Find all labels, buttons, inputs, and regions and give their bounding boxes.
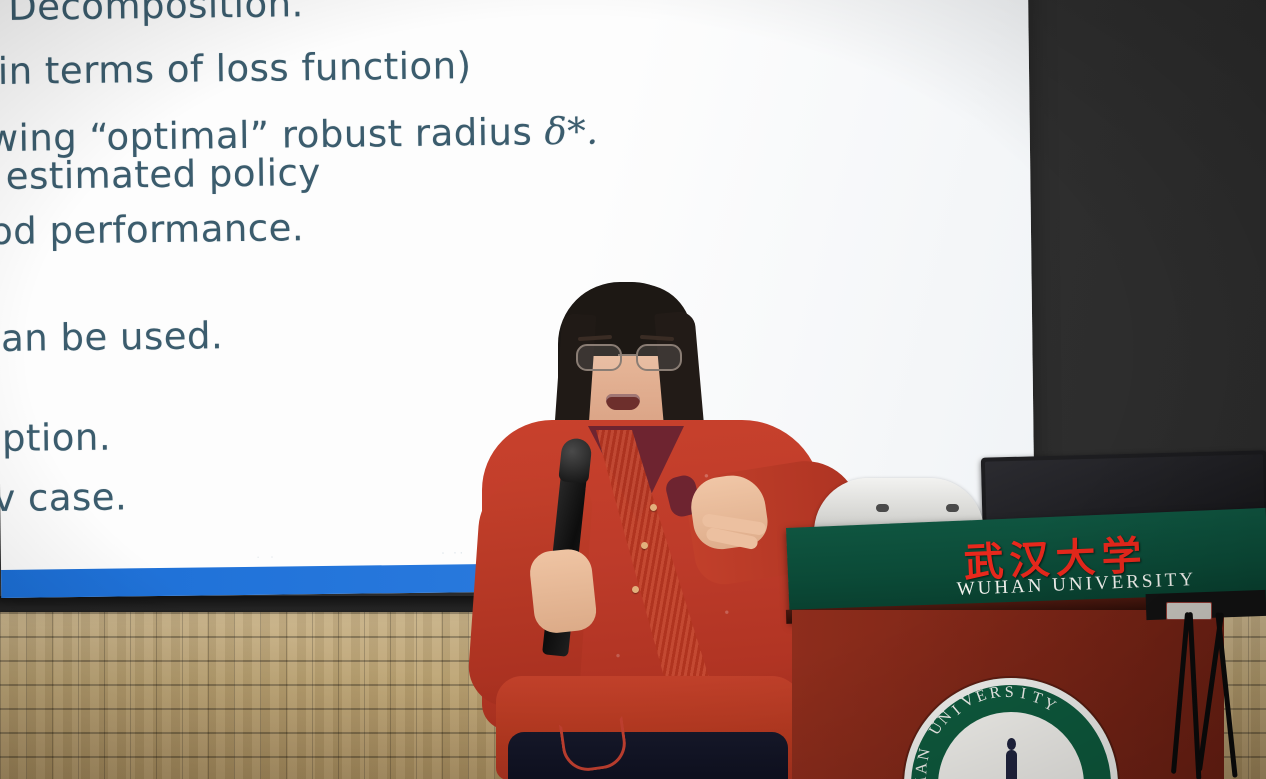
device-port <box>876 504 889 512</box>
wuhan-university-seal: WUHANUNIVERSITY <box>904 678 1118 779</box>
cable <box>1171 612 1190 774</box>
slide-line-6: can be used. <box>0 314 223 360</box>
seal-letter: R <box>988 684 1002 704</box>
eyeglasses <box>574 344 684 368</box>
slide-footer-left: · · <box>256 549 277 564</box>
glasses-bridge <box>618 354 638 356</box>
slide-line-4: e estimated policy <box>0 151 321 198</box>
cable <box>1215 612 1237 778</box>
cardigan-button <box>641 542 648 549</box>
seal-letter: S <box>1005 684 1014 702</box>
slide-line-2: (in terms of loss function) <box>0 44 472 93</box>
delta-star-symbol: δ*. <box>544 110 599 154</box>
mouth <box>606 394 640 410</box>
slide-footer-right: · ·· <box>441 544 466 559</box>
lecture-photo-scene: Decomposition. (in terms of loss functio… <box>0 0 1266 779</box>
seal-letter: I <box>1019 685 1027 704</box>
lectern: 武汉大学 WUHAN UNIVERSITY WUHANUNIVERSITY <box>786 452 1266 779</box>
hand-left-holding-mic <box>528 547 598 635</box>
cardigan-button <box>650 504 657 511</box>
seal-letter: Y <box>1040 695 1059 716</box>
slide-line-7: mption. <box>0 416 111 461</box>
cable-bundle <box>1158 612 1266 779</box>
seal-letter: N <box>915 747 935 762</box>
seal-letter: A <box>913 763 931 775</box>
slide-line-5: ood performance. <box>0 206 304 253</box>
lens-left <box>576 344 622 371</box>
seal-letter: H <box>913 776 933 779</box>
lens-right <box>636 344 682 371</box>
trousers <box>508 732 788 779</box>
slide-line-8: ov case. <box>0 475 128 520</box>
device-port <box>946 504 959 512</box>
seal-arc-text: WUHANUNIVERSITY <box>904 678 1118 779</box>
slide-line-1: Decomposition. <box>8 0 304 29</box>
microphone-head <box>558 437 592 484</box>
cardigan-button <box>632 586 639 593</box>
